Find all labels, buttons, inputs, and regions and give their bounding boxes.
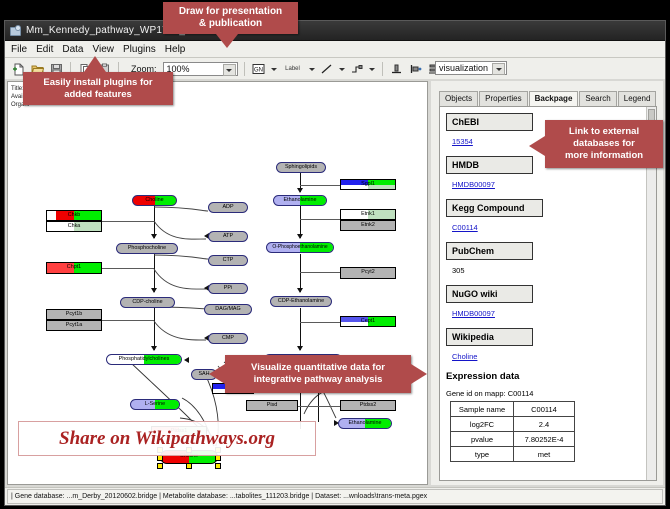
node-label: Pcyt2 [361,270,374,275]
menu-item-file[interactable]: File [11,44,27,55]
node-choline-top[interactable]: Choline [132,195,177,206]
node-label: Sphingolipids [285,165,317,170]
share-banner: Share on Wikipathways.org [18,421,316,456]
side-panel-tabs: Objects Properties Backpage Search Legen… [439,91,663,106]
expression-data-title: Expression data [446,371,644,382]
node-label: CTP [223,258,234,263]
screenshot-root: Mm_Kennedy_pathway_WP1771_45176.gpml Fil… [0,0,670,509]
callout-visualize-arrow-right-icon [411,364,427,384]
node-phosphatidylcholines[interactable]: Phosphatidylcholines [106,354,182,365]
node-phosphocholine[interactable]: Phosphocholine [116,243,178,254]
connector-dropdown-icon[interactable] [368,62,376,76]
node-label: O-Phosphoethanolamine [272,245,327,250]
menu-item-help[interactable]: Help [165,44,186,55]
selection-handle[interactable] [186,463,192,469]
row-value: C00114 [514,402,575,417]
tab-objects[interactable]: Objects [439,91,478,106]
callout-link-line1: Link to external [569,126,639,138]
row-key: log2FC [451,417,514,432]
node-chka[interactable]: Chka [46,221,102,232]
database-name: Wikipedia [446,328,533,346]
row-key: type [451,447,514,462]
label-tool-icon[interactable]: Label [281,61,305,77]
node-label: Phosphatidylcholines [119,357,170,362]
edge [300,254,301,292]
database-entry-wikipedia: Wikipedia Choline [446,328,644,364]
menu-item-data[interactable]: Data [62,44,83,55]
visualization-value: visualization [439,63,488,73]
node-label: Chka [68,224,81,229]
database-name: Kegg Compound [446,199,543,217]
arrow-icon [297,188,303,193]
node-chkb[interactable]: Chkb [46,210,102,221]
row-value: met [514,447,575,462]
node-label: CDP-choline [132,300,162,305]
edge [300,322,342,323]
node-label: ATP [223,234,233,239]
svg-text:GN: GN [254,68,263,74]
connector-icon[interactable] [349,61,365,77]
database-entry-nugo: NuGO wiki HMDB00097 [446,285,644,321]
node-label: Pcyt1a [66,323,82,328]
visualization-combobox[interactable]: visualization [435,61,507,75]
status-bar-field: | Gene database: ...m_Derby_20120602.bri… [7,489,663,504]
callout-visualize-line2: integrative pathway analysis [254,374,383,386]
arrow-icon [151,234,157,239]
node-label: Phosphocholine [128,246,166,251]
edge [102,268,154,269]
edge [300,185,345,186]
chevron-down-icon[interactable] [492,63,505,75]
node-cdp-ethanolamine[interactable]: CDP-Ethanolamine [270,296,332,307]
node-pisd[interactable]: Pisd [246,400,298,411]
callout-plugins-arrow-icon [84,56,106,72]
database-name: HMDB [446,156,533,174]
node-label: Etnk2 [361,223,375,228]
align-left-icon[interactable] [408,61,424,77]
node-label: Ptdss2 [360,403,376,408]
database-link[interactable]: HMDB00097 [452,309,495,318]
node-ethanolamine-bottom[interactable]: Ethanolamine [338,418,392,429]
edge [300,219,342,220]
node-label: Chkb [68,213,81,218]
edge [298,406,340,407]
status-bar: | Gene database: ...m_Derby_20120602.bri… [5,487,665,505]
node-label: DAG/MAG [215,307,240,312]
node-label: Choline [145,198,163,203]
database-link[interactable]: Choline [452,352,477,361]
node-ethanolamine[interactable]: Ethanolamine [273,195,327,206]
arrow-icon [151,288,157,293]
callout-plugins-line2: added features [64,89,132,101]
callout-visualize-arrow-left-icon [209,364,225,384]
database-entry-pubchem: PubChem 305 [446,242,644,278]
table-row: pvalue 7.80252E-4 [451,432,575,447]
share-banner-text: Share on Wikipathways.org [59,428,275,450]
menu-item-edit[interactable]: Edit [36,44,53,55]
row-value: 7.80252E-4 [514,432,575,447]
callout-plugins: Easily install plugins for added feature… [23,72,173,105]
node-pcyt2[interactable]: Pcyt2 [340,267,396,279]
tab-search[interactable]: Search [579,91,616,106]
node-ctp[interactable]: CTP [208,255,248,266]
callout-link: Link to external databases for more info… [545,120,663,168]
node-label: L-Serine [145,402,165,407]
node-pcyt1a[interactable]: Pcyt1a [46,320,102,331]
node-label: Etnk1 [361,212,375,217]
database-entry-kegg: Kegg Compound C00114 [446,199,644,235]
table-row: log2FC 2.4 [451,417,575,432]
node-cmp[interactable]: CMP [208,333,248,344]
node-label: Ethanolamine [284,198,317,203]
node-label: ADP [222,205,233,210]
arrow-icon [297,288,303,293]
node-label: Pisd [267,403,278,408]
menu-item-plugins[interactable]: Plugins [123,44,156,55]
node-label: PPi [224,286,232,291]
node-label: Ethanolamine [349,421,382,426]
arrow-icon [184,357,189,363]
node-etnk2[interactable]: Etnk2 [340,220,396,231]
callout-draw: Draw for presentation & publication [163,2,298,34]
line-dropdown-icon[interactable] [338,62,346,76]
database-name: ChEBI [446,113,533,131]
tab-properties[interactable]: Properties [479,91,527,106]
database-value: 305 [452,266,465,275]
edge [102,320,154,321]
datanode-icon[interactable]: GN [251,61,267,77]
row-value: 2.4 [514,417,575,432]
chevron-down-icon[interactable] [223,64,236,76]
label-dropdown-icon[interactable] [308,62,316,76]
arrow-icon [297,234,303,239]
datanode-dropdown-icon[interactable] [270,62,278,76]
database-name: NuGO wiki [446,285,533,303]
callout-visualize: Visualize quantitative data for integrat… [225,355,411,393]
node-o-phosphoethanolamine[interactable]: O-Phosphoethanolamine [266,242,334,253]
tab-legend[interactable]: Legend [618,91,657,106]
callout-draw-line2: & publication [199,18,262,30]
menu-item-view[interactable]: View [92,44,114,55]
expression-data-table: Sample name C00114 log2FC 2.4 pvalue 7.8… [450,401,575,462]
node-label: Chpt1 [67,265,81,270]
callout-draw-arrow-icon [216,34,238,48]
database-link[interactable]: HMDB00097 [452,180,495,189]
callout-link-arrow-icon [529,136,545,156]
database-link[interactable]: 15354 [452,137,473,146]
edge [300,272,342,273]
node-label: Sgpl1 [361,182,375,187]
node-dag-mag[interactable]: DAG/MAG [204,304,252,315]
node-label: CDP-Ethanolamine [278,299,324,304]
selection-handle[interactable] [157,463,163,469]
gene-id-label: Gene id on mapp: C00114 [446,389,644,398]
row-key: Sample name [451,402,514,417]
cofactor-curves-left [148,197,218,347]
node-etnk1[interactable]: Etnk1 [340,209,396,220]
callout-visualize-line1: Visualize quantitative data for [251,362,385,374]
toolbar-separator [244,62,245,76]
table-row: type met [451,447,575,462]
node-l-serine-left[interactable]: L-Serine [130,399,180,410]
node-fill-white [47,211,56,220]
selection-handle[interactable] [215,463,221,469]
arrow-icon [297,346,303,351]
align-top-icon[interactable] [389,61,405,77]
tab-backpage[interactable]: Backpage [529,91,579,107]
edge [300,308,301,350]
database-name: PubChem [446,242,533,260]
node-ptdss2[interactable]: Ptdss2 [340,400,396,411]
row-key: pvalue [451,432,514,447]
callout-link-line2: databases for [573,138,635,150]
application-icon [10,25,21,36]
node-adp[interactable]: ADP [208,202,248,213]
status-bar-text: | Gene database: ...m_Derby_20120602.bri… [11,493,427,500]
node-sgpl1[interactable]: Sgpl1 [340,179,396,190]
node-label: Cept1 [361,319,375,324]
arrow-icon [151,346,157,351]
node-ppi[interactable]: PPi [208,283,248,294]
title-bar: Mm_Kennedy_pathway_WP1771_45176.gpml [5,21,665,41]
callout-link-line3: more information [565,150,643,162]
line-icon[interactable] [319,61,335,77]
node-cdp-choline[interactable]: CDP-choline [120,297,175,308]
edge [102,221,154,222]
node-sphingolipids[interactable]: Sphingolipids [276,162,326,173]
zoom-combobox[interactable]: 100% [163,62,238,76]
callout-plugins-line1: Easily install plugins for [43,77,152,89]
node-label: CMP [222,336,234,341]
table-row: Sample name C00114 [451,402,575,417]
node-label: Pcyt1b [66,312,82,317]
node-atp[interactable]: ATP [208,231,248,242]
node-pcyt1b[interactable]: Pcyt1b [46,309,102,320]
database-link[interactable]: C00114 [452,223,478,232]
node-cept1[interactable]: Cept1 [340,316,396,327]
toolbar-separator [382,62,383,76]
node-label: SAH [198,372,209,377]
callout-draw-line1: Draw for presentation [179,6,282,18]
node-chpt1[interactable]: Chpt1 [46,262,102,274]
backpage-content: ChEBI 15354 HMDB HMDB00097 Kegg Compound… [446,113,644,480]
